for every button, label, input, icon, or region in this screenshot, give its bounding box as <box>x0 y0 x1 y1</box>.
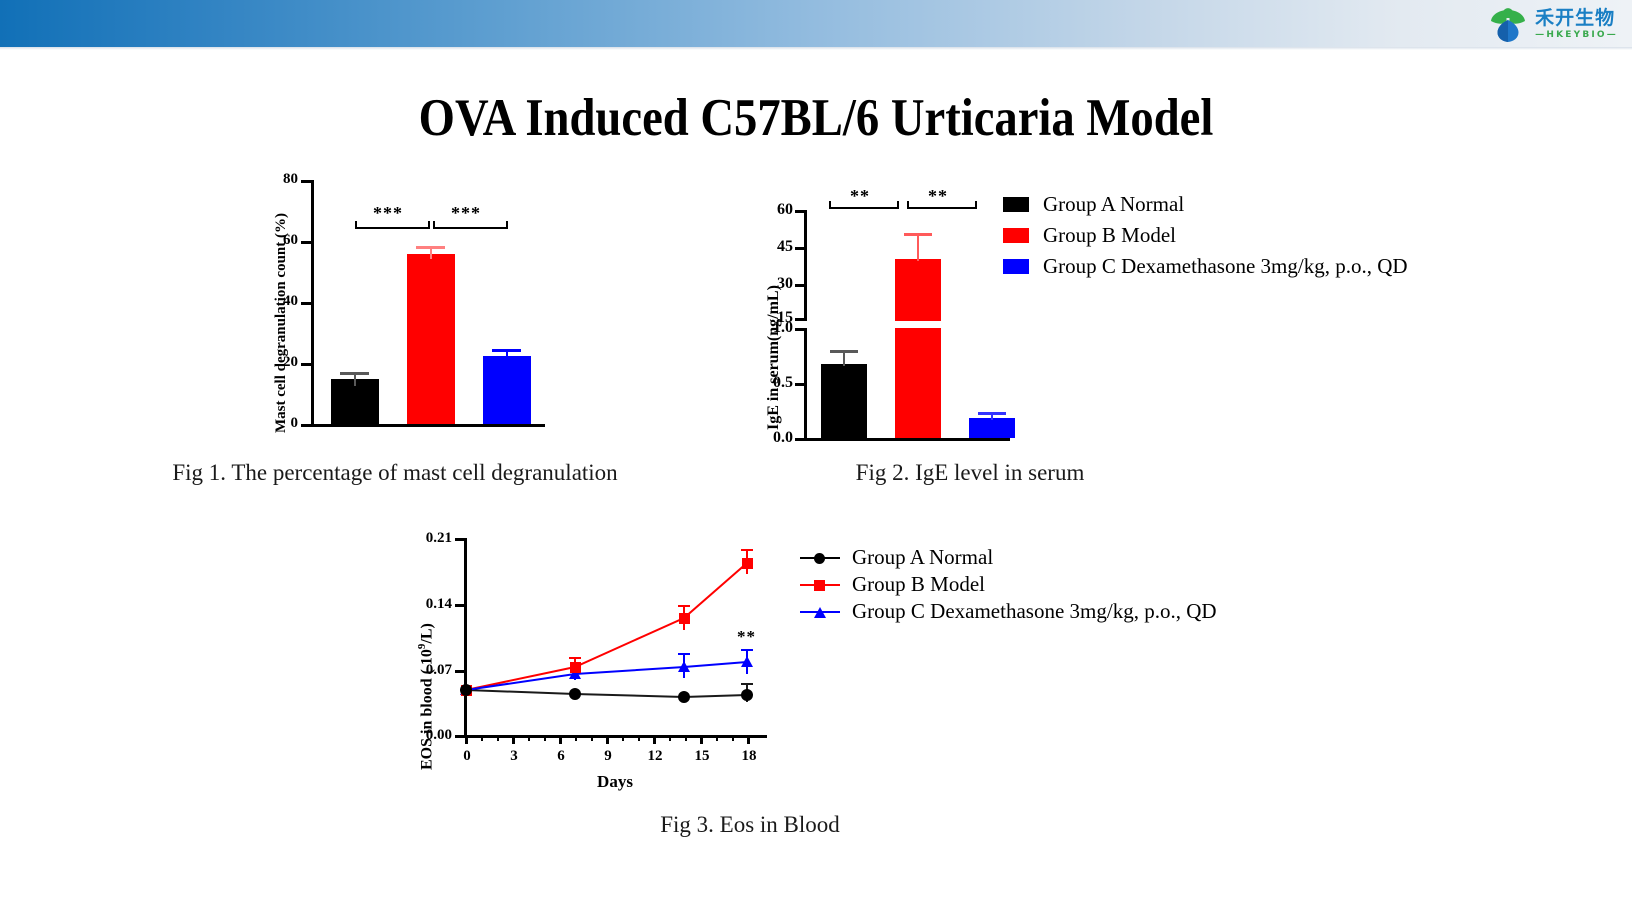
fig1-ytick-label-80: 80 <box>265 171 298 188</box>
fig2-error-c-cap <box>978 412 1006 415</box>
fig1-ytick-label-20: 20 <box>265 354 298 371</box>
legend3-symbol-group-b <box>800 577 840 593</box>
fig2-x-axis <box>804 438 1010 441</box>
fig2-y-axis-upper <box>804 210 807 321</box>
legend-label-group-b: Group B Model <box>1043 223 1176 248</box>
legend-item-group-c: Group C Dexamethasone 3mg/kg, p.o., QD <box>1003 254 1408 279</box>
fig2-ytick-45 <box>795 247 805 250</box>
legend3-label-group-c: Group C Dexamethasone 3mg/kg, p.o., QD <box>852 599 1217 624</box>
fig2-bar-group-b-upper <box>895 259 941 321</box>
legend3-label-group-b: Group B Model <box>852 572 985 597</box>
fig1-sig-tick-c <box>506 221 508 229</box>
legend-swatch-group-a <box>1003 197 1029 212</box>
fig2-bar-group-b-lower <box>895 328 941 438</box>
fig2-sig-bar-bc <box>907 207 977 209</box>
legend-swatch-group-b <box>1003 228 1029 243</box>
fig3-sig-label-day18: ** <box>737 627 756 647</box>
fig1-sig-bar-ab <box>355 227 430 229</box>
fig2-ytick-label-30: 30 <box>759 275 793 293</box>
legend3-symbol-group-c <box>800 604 840 620</box>
fig2-ytick-label-45: 45 <box>759 238 793 256</box>
fig1-sig-label-ab: *** <box>373 203 403 224</box>
legend3-symbol-group-a <box>800 550 840 566</box>
figure-3-legend: Group A Normal Group B Model Group C Dex… <box>800 545 1230 640</box>
legend-item-group-a: Group A Normal <box>1003 192 1184 217</box>
figure-3-caption: Fig 3. Eos in Blood <box>560 812 940 838</box>
fig1-sig-tick-b1 <box>428 221 430 229</box>
legend-label-group-c: Group C Dexamethasone 3mg/kg, p.o., QD <box>1043 254 1408 279</box>
fig2-sig-bar-ab <box>829 207 899 209</box>
fig2-ytick-label-60: 60 <box>759 201 793 219</box>
fig2-sig-label-ab: ** <box>850 186 870 207</box>
fig2-ytick-label-0p5: 0.5 <box>753 374 793 392</box>
fig2-ytick-1p0 <box>795 328 805 331</box>
figure-2-legend: Group A Normal Group B Model Group C Dex… <box>1003 192 1423 287</box>
figure-1-caption: Fig 1. The percentage of mast cell degra… <box>110 460 680 486</box>
fig1-ytick-20 <box>301 363 312 366</box>
header-shadow <box>0 47 1632 50</box>
logo-english-name: —HKEYBIO— <box>1535 31 1618 40</box>
fig2-bar-group-a <box>821 364 867 438</box>
fig2-sig-tick-b2 <box>907 201 909 209</box>
fig2-ytick-0p5 <box>795 383 805 386</box>
fig1-sig-bar-bc <box>433 227 508 229</box>
leaf-logo-icon <box>1488 4 1528 44</box>
fig1-ytick-label-0: 0 <box>265 415 298 432</box>
legend-label-group-a: Group A Normal <box>1043 192 1184 217</box>
fig3-plot-lines <box>410 530 790 800</box>
fig1-sig-tick-b2 <box>433 221 435 229</box>
company-logo: 禾开生物 —HKEYBIO— <box>1488 4 1618 44</box>
fig1-bar-group-b <box>407 254 455 424</box>
fig1-ytick-80 <box>301 180 312 183</box>
figure-3: EOS in blood ( 109/L) 0.21 0.14 0.07 0.0… <box>410 530 790 800</box>
legend3-item-group-b: Group B Model <box>800 572 985 597</box>
fig2-error-b-stem <box>917 233 919 261</box>
fig2-sig-tick-b1 <box>897 201 899 209</box>
fig1-error-a-cap <box>340 372 369 375</box>
slide-page: 禾开生物 —HKEYBIO— OVA Induced C57BL/6 Urtic… <box>0 0 1632 915</box>
figure-2-caption: Fig 2. IgE level in serum <box>740 460 1200 486</box>
fig1-ytick-label-60: 60 <box>265 232 298 249</box>
fig2-error-a-cap <box>830 350 858 353</box>
fig2-ytick-60 <box>795 210 805 213</box>
fig1-error-b-cap <box>416 246 445 249</box>
header-bar <box>0 0 1632 47</box>
fig1-ytick-60 <box>301 241 312 244</box>
legend-swatch-group-c <box>1003 259 1029 274</box>
logo-chinese-name: 禾开生物 <box>1535 9 1618 28</box>
fig2-sig-tick-c <box>975 201 977 209</box>
fig1-bar-group-c <box>483 356 531 424</box>
figure-2: IgE in serum(ng/mL) 60 45 30 15 1.0 0.5 … <box>755 170 1025 455</box>
fig1-ytick-0 <box>301 424 312 427</box>
fig2-error-b-cap <box>904 233 932 236</box>
fig2-bar-group-c <box>969 418 1015 438</box>
legend3-item-group-a: Group A Normal <box>800 545 993 570</box>
fig2-ytick-label-0p0: 0.0 <box>753 429 793 447</box>
figure-1: Mast cell degranulation count (%) 0 20 4… <box>255 165 555 445</box>
legend3-item-group-c: Group C Dexamethasone 3mg/kg, p.o., QD <box>800 599 1217 624</box>
fig2-sig-tick-a <box>829 201 831 209</box>
fig2-ytick-30 <box>795 284 805 287</box>
fig1-sig-tick-a <box>355 221 357 229</box>
fig2-sig-label-bc: ** <box>928 186 948 207</box>
fig2-y-axis-label: IgE in serum(ng/mL) <box>765 285 783 430</box>
fig2-ytick-15 <box>795 318 805 321</box>
page-title: OVA Induced C57BL/6 Urticaria Model <box>98 88 1534 148</box>
fig1-sig-label-bc: *** <box>451 203 481 224</box>
legend3-label-group-a: Group A Normal <box>852 545 993 570</box>
fig2-ytick-label-1p0: 1.0 <box>753 319 793 337</box>
fig1-error-c-cap <box>492 349 521 352</box>
fig1-x-axis <box>311 424 545 427</box>
legend-item-group-b: Group B Model <box>1003 223 1176 248</box>
fig2-ytick-0p0 <box>795 438 805 441</box>
fig1-ytick-40 <box>301 302 312 305</box>
logo-wordmark: 禾开生物 —HKEYBIO— <box>1535 9 1618 40</box>
fig1-ytick-label-40: 40 <box>265 293 298 310</box>
